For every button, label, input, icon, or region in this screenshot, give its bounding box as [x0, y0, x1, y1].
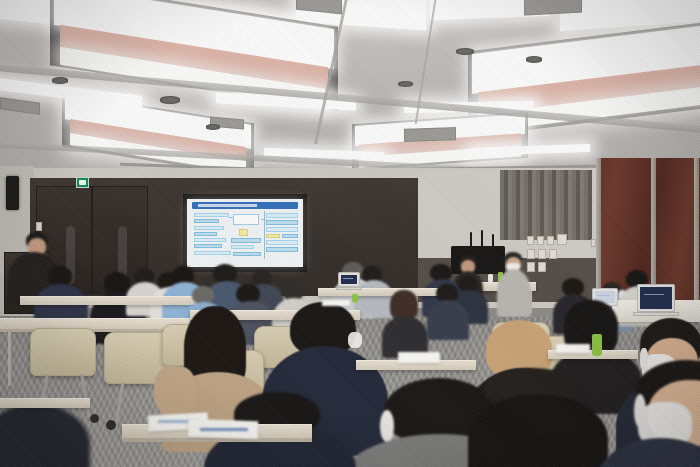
ceiling-downlight [160, 96, 180, 104]
microphone-stand [492, 234, 494, 248]
slide-box [231, 245, 254, 249]
chair-caster [106, 420, 116, 430]
handout-paper [398, 352, 440, 363]
slide-box [194, 244, 222, 248]
slide-highlight-box [239, 229, 248, 236]
drink-bottle [592, 334, 602, 356]
wall-picture-frame [527, 262, 535, 272]
window-curtain [500, 170, 592, 240]
arm [154, 366, 196, 416]
wall-picture-frame [527, 249, 535, 259]
microphone-stand [481, 230, 483, 248]
wall-picture-frame [538, 262, 546, 272]
wall-picture-frame [557, 234, 567, 245]
torso [427, 300, 469, 340]
wall-picture-frame [538, 249, 546, 259]
paper-printed-line [200, 428, 248, 431]
slide-box [266, 213, 298, 218]
ceiling-air-vent [404, 127, 456, 142]
handout-paper [322, 300, 350, 306]
slide-box [266, 247, 298, 252]
face-mask [348, 332, 362, 348]
table-edge [122, 438, 312, 442]
laptop-keyboard[interactable] [336, 287, 362, 290]
slide-box [266, 220, 298, 225]
mask-ear-loop [634, 394, 646, 428]
foreground-table [0, 398, 90, 408]
ceiling-downlight [456, 48, 474, 55]
slide-highlight-box [266, 234, 280, 239]
table-leg [8, 330, 11, 386]
paper-cup [488, 274, 493, 283]
slide-divider [264, 211, 265, 259]
slide-box [194, 238, 226, 242]
laptop-screen[interactable] [338, 272, 360, 287]
wall-panel-seam [694, 158, 699, 308]
torso [354, 280, 394, 318]
slide-box [266, 227, 298, 232]
drink-bottle [352, 294, 358, 303]
mask-ear-loop [640, 348, 648, 370]
slide-box [266, 240, 298, 245]
hair [104, 272, 130, 294]
chair-caster [90, 414, 99, 423]
chair[interactable] [30, 328, 96, 376]
staff-torso [497, 269, 531, 317]
wall-picture-frame [537, 236, 544, 245]
mask-ear-loop [380, 410, 394, 442]
projection-screen [187, 199, 303, 267]
slide-box [194, 232, 217, 236]
laptop-keyboard[interactable] [633, 312, 679, 316]
ceiling-downlight [52, 77, 68, 84]
slide-box [194, 213, 229, 218]
ceiling-downlight [206, 124, 220, 130]
ceiling-downlight [398, 81, 413, 87]
slide-connector-line [229, 217, 234, 218]
wall-picture-frame [549, 249, 557, 259]
slide-box [194, 219, 220, 223]
slide-box [282, 234, 298, 239]
slide-box [194, 226, 224, 230]
slide-box [233, 252, 261, 256]
slide-box [194, 251, 231, 256]
attendee-table [0, 318, 190, 329]
attendee-table [20, 296, 200, 305]
conference-room-photo: Conference room seminar photograph [0, 0, 700, 467]
wall-picture-frame [547, 236, 554, 245]
wall-switch-plate[interactable] [36, 222, 42, 231]
slide-box [231, 238, 261, 242]
slide-box [233, 214, 259, 225]
laptop-display [640, 287, 672, 309]
emergency-exit-sign [76, 177, 89, 188]
handout-paper [556, 344, 590, 353]
laptop-display [341, 275, 357, 284]
wall-picture-frame [527, 236, 534, 245]
microphone-stand [470, 232, 472, 248]
ceiling-downlight [526, 56, 542, 63]
slide-title-bar [192, 202, 299, 208]
wall-speaker-left [6, 176, 19, 210]
hair [48, 266, 72, 286]
laptop-screen[interactable] [637, 284, 675, 312]
wall-panel-seam [596, 158, 601, 308]
